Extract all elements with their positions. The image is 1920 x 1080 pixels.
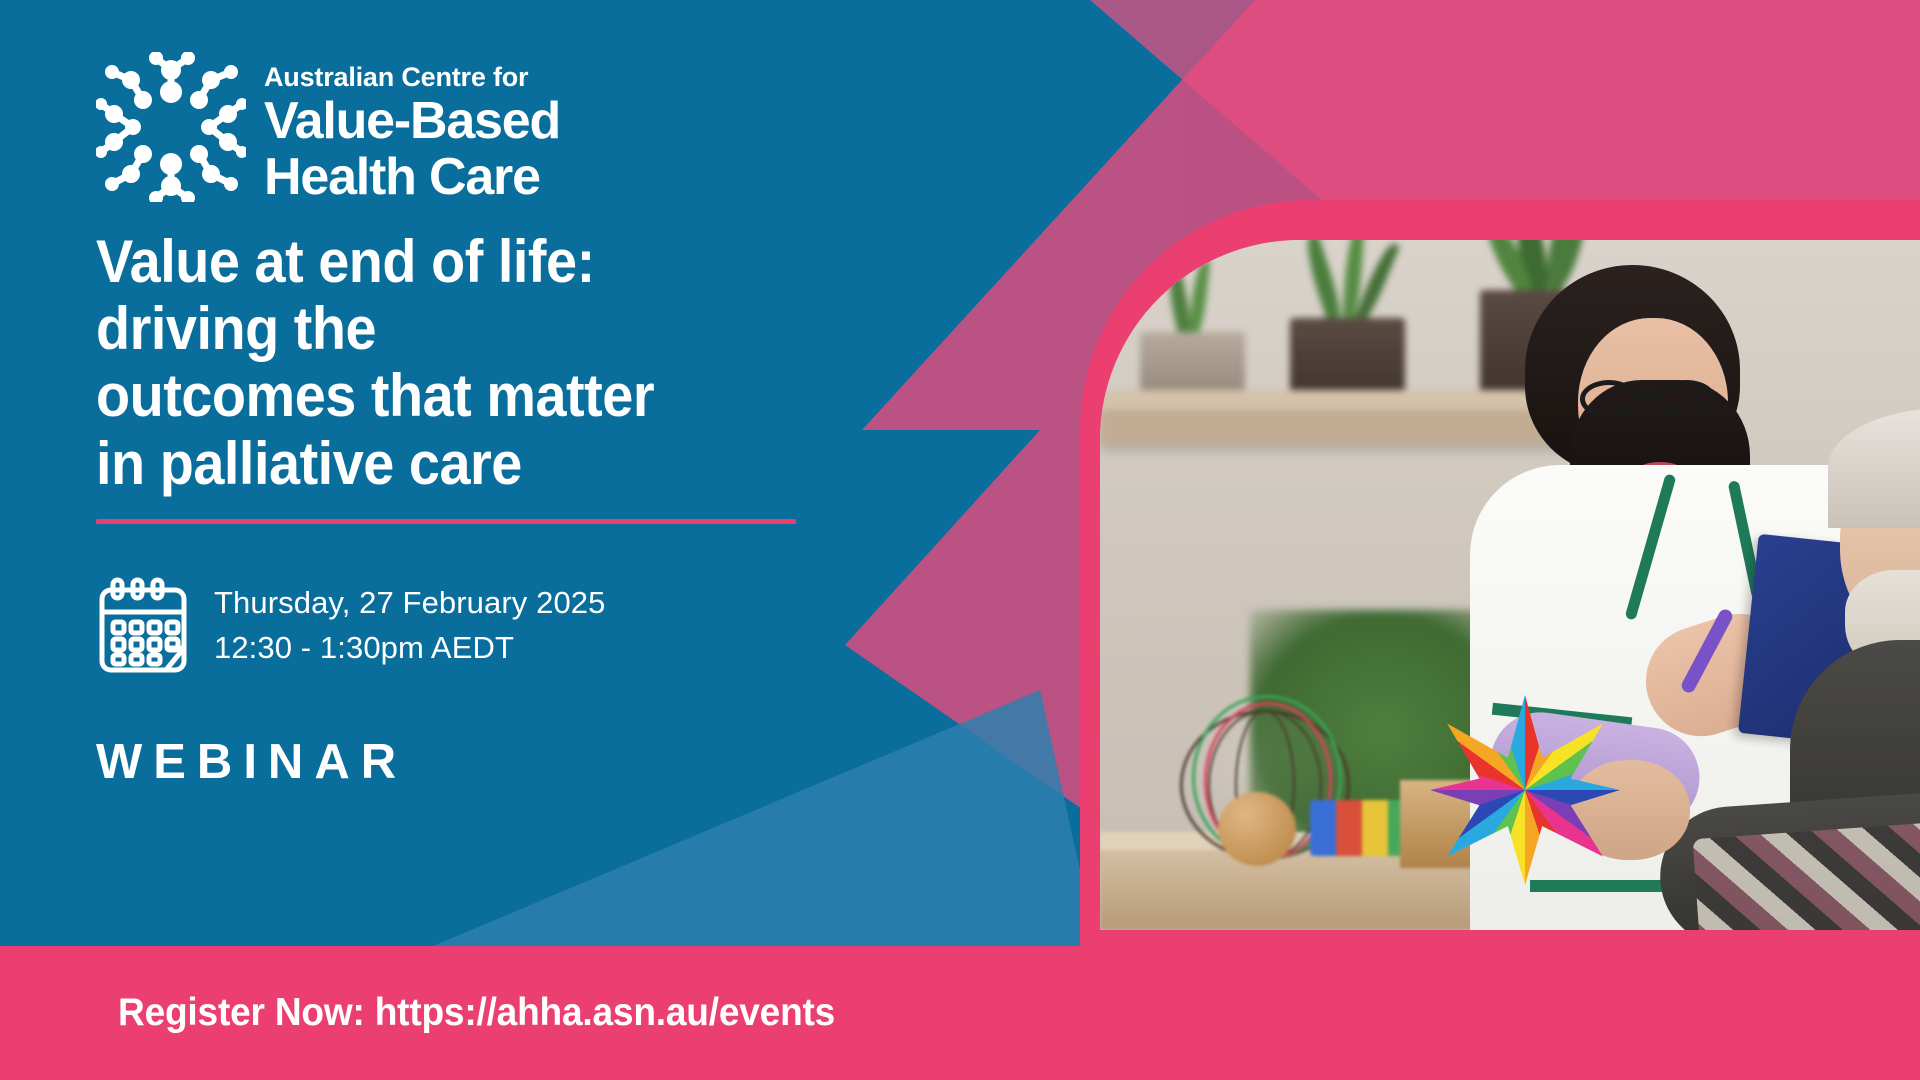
logo-line-2: Value-Based <box>264 97 560 147</box>
molecular-network-icon <box>96 52 246 202</box>
glasses-icon <box>1580 380 1730 420</box>
headline-line-1: Value at end of life: <box>96 228 803 295</box>
logo-line-3: Health Care <box>264 153 560 203</box>
footer-bar: Register Now: https://ahha.asn.au/events <box>0 946 1920 1080</box>
event-type-label: WEBINAR <box>96 734 856 790</box>
event-time: 12:30 - 1:30pm AEDT <box>214 626 605 671</box>
event-photo <box>1100 240 1920 930</box>
headline-line-3: outcomes that matter <box>96 362 803 429</box>
datetime-text: Thursday, 27 February 2025 12:30 - 1:30p… <box>214 581 605 671</box>
page-title: Value at end of life: driving the outcom… <box>96 228 803 497</box>
logo-line-1: Australian Centre for <box>264 64 560 91</box>
title-divider <box>96 519 796 524</box>
event-date: Thursday, 27 February 2025 <box>214 581 605 626</box>
calendar-icon <box>96 576 190 676</box>
headline-line-2: driving the <box>96 295 803 362</box>
logo-wordmark: Australian Centre for Value-Based Health… <box>264 52 560 203</box>
event-datetime: Thursday, 27 February 2025 12:30 - 1:30p… <box>96 576 856 676</box>
webinar-promo-banner: Australian Centre for Value-Based Health… <box>0 0 1920 1080</box>
headline-line-4: in palliative care <box>96 430 803 497</box>
content-column: Australian Centre for Value-Based Health… <box>96 0 856 1080</box>
organisation-logo: Australian Centre for Value-Based Health… <box>96 52 856 202</box>
register-cta[interactable]: Register Now: https://ahha.asn.au/events <box>118 991 835 1035</box>
